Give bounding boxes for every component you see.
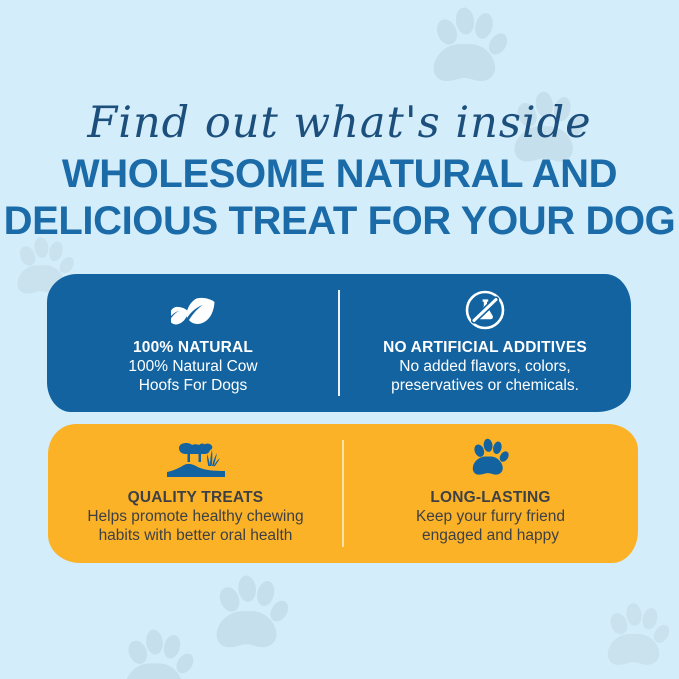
no-chemicals-flask-icon [465, 288, 505, 330]
feature-card-blue: 100% NATURAL 100% Natural Cow Hoofs For … [47, 274, 631, 412]
paw-watermark-icon [606, 602, 672, 674]
feature-body-line-2: engaged and happy [422, 526, 559, 545]
headline-line-1: WHOLESOME NATURAL AND [0, 154, 679, 195]
paw-watermark-icon [124, 628, 196, 679]
page-title: Find out what's inside WHOLESOME NATURAL… [0, 98, 679, 242]
leaf-icon [171, 288, 215, 330]
feature-body-line-1: Helps promote healthy chewing [87, 507, 303, 526]
feature-body-line-1: Keep your furry friend [416, 507, 565, 526]
feature-card-orange: QUALITY TREATS Helps promote healthy che… [48, 424, 638, 563]
feature-no-artificial-additives: NO ARTIFICIAL ADDITIVES No added flavors… [339, 274, 631, 412]
feature-title: NO ARTIFICIAL ADDITIVES [383, 339, 587, 357]
feature-body-line-2: preservatives or chemicals. [391, 376, 579, 395]
infographic-canvas: Find out what's inside WHOLESOME NATURAL… [0, 0, 679, 679]
feature-title: LONG-LASTING [430, 489, 550, 507]
feature-100-natural: 100% NATURAL 100% Natural Cow Hoofs For … [47, 274, 339, 412]
feature-title: QUALITY TREATS [128, 489, 264, 507]
feature-body-line-2: habits with better oral health [99, 526, 293, 545]
script-tagline: Find out what's inside [0, 98, 679, 148]
feature-body-line-2: Hoofs For Dogs [139, 376, 248, 395]
headline-line-2: DELICIOUS TREAT FOR YOUR DOG [0, 201, 679, 242]
feature-long-lasting: LONG-LASTING Keep your furry friend enga… [343, 424, 638, 563]
feature-body-line-1: 100% Natural Cow [128, 357, 257, 376]
feature-quality-treats: QUALITY TREATS Helps promote healthy che… [48, 424, 343, 563]
paw-watermark-icon [432, 6, 510, 92]
paw-watermark-icon [215, 574, 291, 658]
feature-body-line-1: No added flavors, colors, [399, 357, 570, 376]
feature-title: 100% NATURAL [133, 339, 253, 357]
paw-print-icon [471, 438, 511, 480]
sheep-on-pasture-icon [165, 438, 227, 480]
